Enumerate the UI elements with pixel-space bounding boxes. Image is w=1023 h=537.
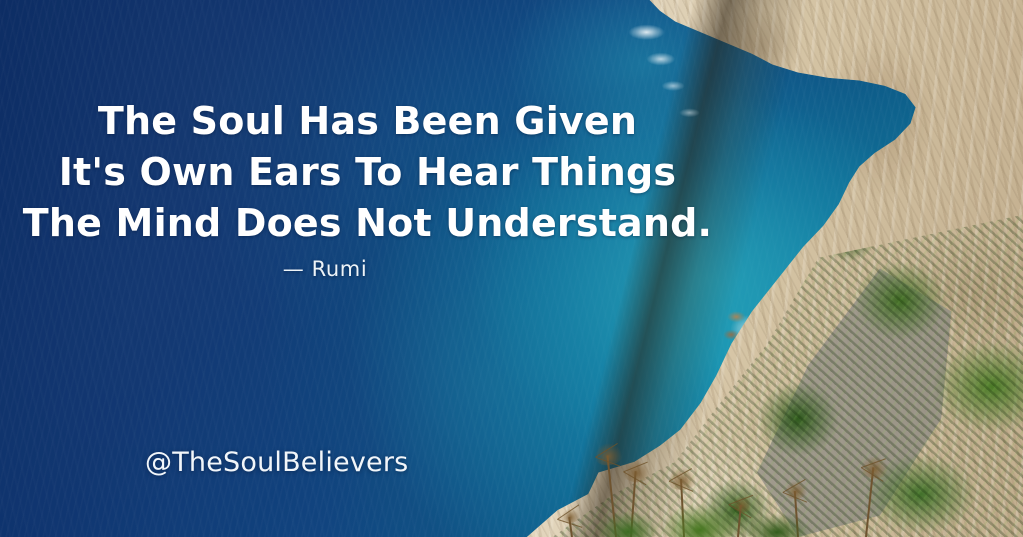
- social-handle: @TheSoulBelievers: [145, 447, 408, 478]
- quote-line-1: The Soul Has Been Given: [0, 96, 735, 147]
- quote-attribution: — Rumi: [0, 257, 835, 281]
- quote-line-2: It's Own Ears To Hear Things: [0, 147, 735, 198]
- quote-graphic-canvas: The Soul Has Been Given It's Own Ears To…: [0, 0, 1023, 537]
- quote-block: The Soul Has Been Given It's Own Ears To…: [0, 96, 735, 249]
- text-overlay: The Soul Has Been Given It's Own Ears To…: [0, 0, 1023, 537]
- quote-line-3: The Mind Does Not Understand.: [0, 198, 735, 249]
